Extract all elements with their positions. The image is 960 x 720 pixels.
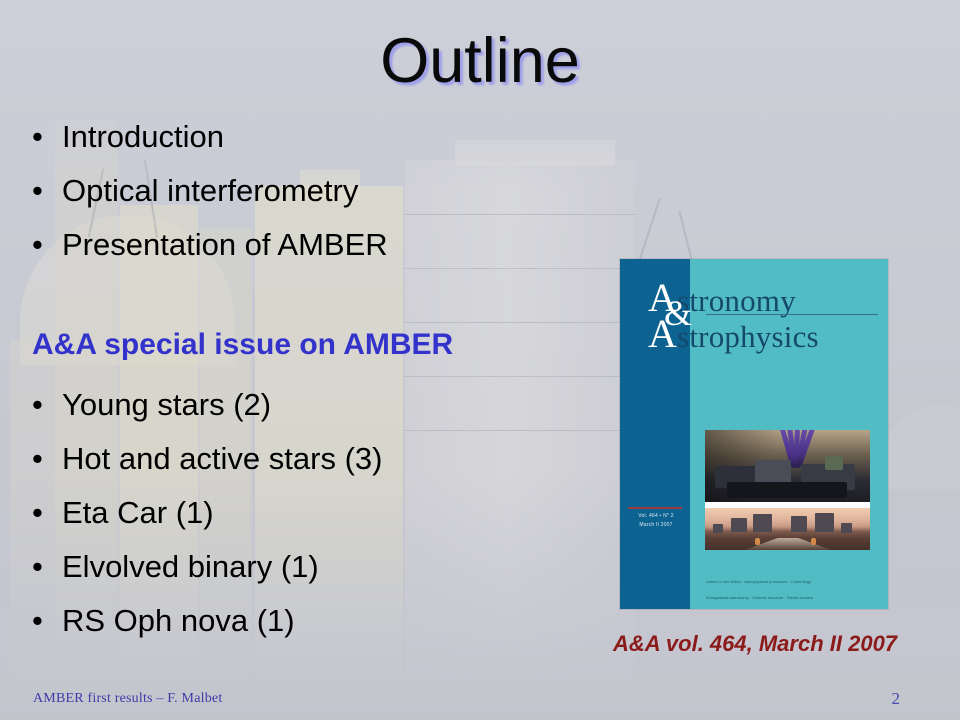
telescope-unit (713, 524, 723, 533)
cover-spine-date: March II 2007 (626, 521, 686, 529)
list-item-label: Optical interferometry (62, 164, 358, 218)
telescope-unit (841, 523, 852, 533)
cover-masthead-rule (706, 314, 878, 315)
bullet-icon: • (26, 540, 62, 594)
bullet-icon: • (26, 594, 62, 648)
figure-silhouette (811, 538, 816, 545)
presentation-slide: Outline • Introduction • Optical interfe… (0, 0, 960, 720)
list-item-label: Presentation of AMBER (62, 218, 388, 272)
page-number: 2 (892, 689, 901, 709)
cover-masthead-text-1: stronomy (677, 283, 796, 318)
bullet-icon: • (26, 378, 62, 432)
telescope-unit (815, 513, 834, 532)
cover-footer-line-2: Extragalactic astronomy · Galactic struc… (706, 593, 876, 603)
bullet-icon: • (26, 432, 62, 486)
list-item: • Elvolved binary (1) (26, 540, 626, 594)
list-item-label: Introduction (62, 110, 224, 164)
list-item-label: Hot and active stars (3) (62, 432, 382, 486)
slide-footer: AMBER first results – F. Malbet (33, 691, 222, 707)
cover-photo-group (705, 430, 870, 550)
bullet-icon: • (26, 164, 62, 218)
telescope-unit (753, 514, 772, 532)
outline-list-bottom: • Young stars (2) • Hot and active stars… (26, 378, 626, 648)
telescope-unit (791, 516, 807, 532)
slide-title: Outline (0, 28, 960, 94)
list-item-label: Young stars (2) (62, 378, 271, 432)
list-item: • Presentation of AMBER (26, 218, 626, 272)
background-tower-line-4 (405, 376, 635, 377)
cover-spine-volume: Vol. 464 • N° 2 (626, 512, 686, 520)
bullet-icon: • (26, 486, 62, 540)
list-item: • Hot and active stars (3) (26, 432, 626, 486)
cover-ampersand: & (664, 295, 692, 331)
list-item-label: Elvolved binary (1) (62, 540, 319, 594)
cover-masthead-text-2: strophysics (677, 319, 819, 354)
cover-spine-rule (628, 507, 682, 509)
list-item: • RS Oph nova (1) (26, 594, 626, 648)
journal-cover-image: Astronomy Astrophysics & Vol. 464 • N° 2… (620, 259, 888, 609)
list-item: • Eta Car (1) (26, 486, 626, 540)
bullet-icon: • (26, 218, 62, 272)
section-heading: A&A special issue on AMBER (32, 328, 453, 362)
figure-silhouette (755, 538, 760, 545)
cover-photo-instrument (705, 430, 870, 502)
journal-cover-caption: A&A vol. 464, March II 2007 (560, 631, 950, 657)
list-item: • Young stars (2) (26, 378, 626, 432)
optical-bench (727, 482, 847, 498)
background-tower-line-3 (405, 322, 635, 323)
cover-footer-line-1: Letters to the Editor · Astrophysical pr… (706, 577, 876, 587)
list-item: • Optical interferometry (26, 164, 626, 218)
outline-list-top: • Introduction • Optical interferometry … (26, 110, 626, 272)
list-item-label: Eta Car (1) (62, 486, 214, 540)
bullet-icon: • (26, 110, 62, 164)
cover-photo-observatory-sunset (705, 508, 870, 550)
list-item-label: RS Oph nova (1) (62, 594, 295, 648)
cover-masthead: Astronomy Astrophysics & (648, 281, 878, 353)
list-item: • Introduction (26, 110, 626, 164)
instrument-part (825, 456, 843, 470)
telescope-unit (731, 518, 747, 532)
